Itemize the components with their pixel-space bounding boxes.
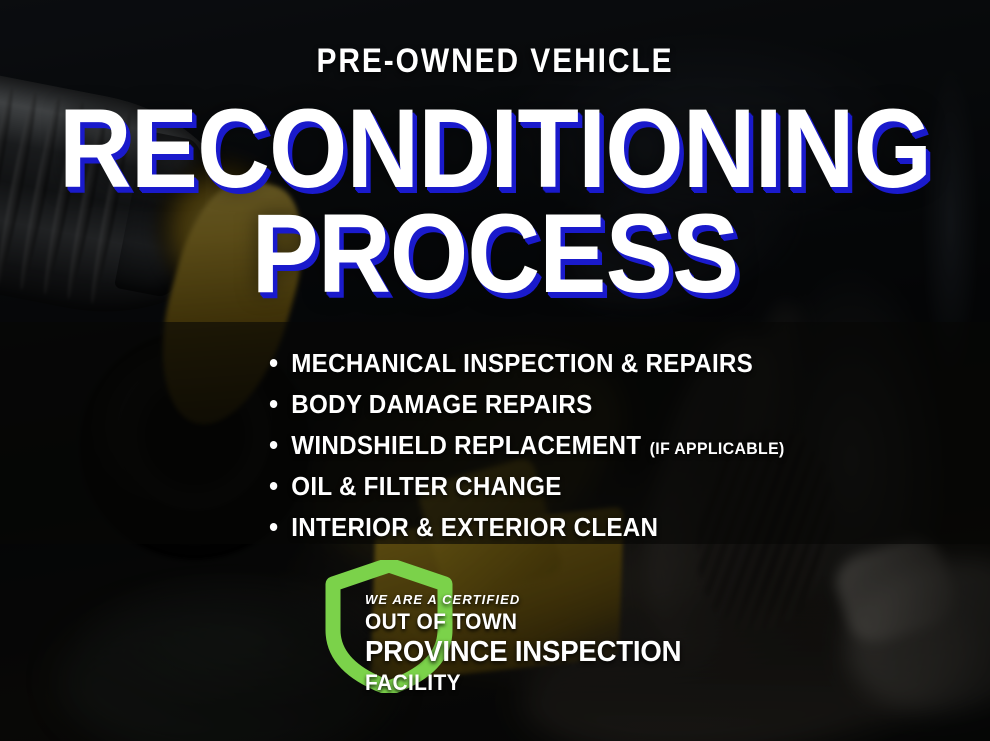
- list-item-label: OIL & FILTER CHANGE: [291, 471, 561, 501]
- badge-line-3: PROVINCE INSPECTION: [365, 636, 681, 669]
- badge-line-4: FACILITY: [365, 670, 681, 696]
- list-item-note: (IF APPLICABLE): [650, 439, 785, 458]
- eyebrow-text: PRE-OWNED VEHICLE: [59, 42, 930, 81]
- certification-badge: WE ARE A CERTIFIED OUT OF TOWN PROVINCE …: [325, 560, 725, 695]
- badge-line-1: WE ARE A CERTIFIED: [365, 592, 698, 607]
- list-item-label: BODY DAMAGE REPAIRS: [291, 389, 592, 419]
- list-item: INTERIOR & EXTERIOR CLEAN: [268, 512, 785, 543]
- list-item-label: INTERIOR & EXTERIOR CLEAN: [291, 512, 658, 542]
- list-item: BODY DAMAGE REPAIRS: [268, 389, 785, 420]
- list-item: WINDSHIELD REPLACEMENT(IF APPLICABLE): [268, 430, 785, 461]
- list-item-label: WINDSHIELD REPLACEMENT: [291, 430, 641, 460]
- page-title: RECONDITIONING PROCESS: [50, 96, 941, 307]
- title-line-2: PROCESS: [50, 201, 941, 306]
- service-list: MECHANICAL INSPECTION & REPAIRS BODY DAM…: [268, 348, 824, 553]
- badge-line-2: OUT OF TOWN: [365, 609, 681, 635]
- poster-content: PRE-OWNED VEHICLE RECONDITIONING PROCESS…: [0, 0, 990, 741]
- reconditioning-process-poster: PRE-OWNED VEHICLE RECONDITIONING PROCESS…: [0, 0, 990, 741]
- list-item: MECHANICAL INSPECTION & REPAIRS: [268, 348, 785, 379]
- list-item-label: MECHANICAL INSPECTION & REPAIRS: [291, 348, 753, 378]
- title-line-1: RECONDITIONING: [50, 96, 941, 201]
- badge-text-block: WE ARE A CERTIFIED OUT OF TOWN PROVINCE …: [365, 592, 698, 696]
- list-item: OIL & FILTER CHANGE: [268, 471, 785, 502]
